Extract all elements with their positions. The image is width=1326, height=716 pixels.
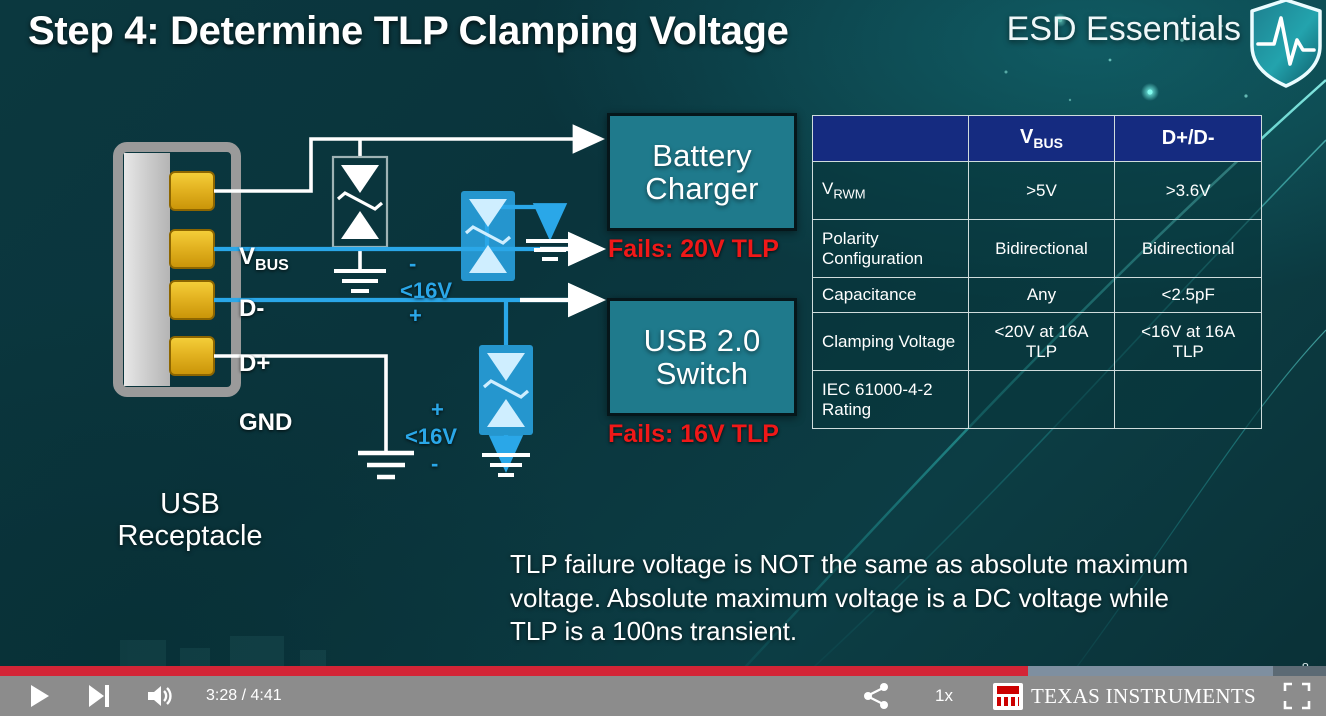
volume-icon[interactable] — [142, 679, 176, 713]
header-vbus-main: V — [1020, 126, 1033, 148]
block-battery-charger: Battery Charger — [607, 113, 797, 231]
fail-note-charger: Fails: 20V TLP — [608, 235, 779, 264]
tvs-diode-blue-lower — [479, 300, 533, 475]
table-header-vbus: VBUS — [968, 116, 1115, 162]
cell-polarity-vbus: Bidirectional — [968, 220, 1115, 278]
circuit-diagram: Battery Charger Fails: 20V TLP USB 2.0 S… — [0, 95, 810, 595]
row-head-vrwm: VRWM — [813, 162, 969, 220]
vrwm-main: V — [822, 179, 833, 198]
ti-mark-icon — [993, 683, 1023, 710]
receptacle-caption: USB Receptacle — [100, 488, 280, 553]
ti-brand-text: TEXAS INSTRUMENTS — [1031, 684, 1256, 709]
slide-title: Step 4: Determine TLP Clamping Voltage — [28, 9, 789, 54]
signal-label-dminus: D- — [239, 295, 264, 323]
block-label-line2: Charger — [645, 172, 758, 205]
signal-label-vbus: VBUS — [239, 243, 289, 275]
receptacle-caption-line2: Receptacle — [100, 520, 280, 552]
fail-note-switch: Fails: 16V TLP — [608, 420, 779, 449]
next-track-icon[interactable] — [82, 679, 116, 713]
vrwm-sub: RWM — [833, 187, 865, 202]
cell-capacitance-dpdm: <2.5pF — [1115, 278, 1262, 313]
share-icon[interactable] — [859, 679, 893, 713]
tvs-diode-blue-upper — [461, 191, 574, 281]
block-usb-switch: USB 2.0 Switch — [607, 298, 797, 416]
vbus-main: V — [239, 243, 255, 270]
row-head-polarity: Polarity Configuration — [813, 220, 969, 278]
table-header-dpdm: D+/D- — [1115, 116, 1262, 162]
progress-bar[interactable] — [0, 666, 1326, 676]
progress-played — [0, 666, 1028, 676]
tvs-upper-top-sign: - — [409, 251, 416, 277]
brand-label: ESD Essentials — [1007, 10, 1241, 49]
cell-vrwm-dpdm: >3.6V — [1115, 162, 1262, 220]
table-row: Clamping Voltage <20V at 16A TLP <16V at… — [813, 313, 1262, 371]
texas-instruments-logo: TEXAS INSTRUMENTS — [993, 683, 1256, 710]
table-row: Polarity Configuration Bidirectional Bid… — [813, 220, 1262, 278]
row-head-capacitance: Capacitance — [813, 278, 969, 313]
player-controls: 3:28 / 4:41 1x TEXAS INSTRUMENTS — [0, 676, 1326, 716]
cell-iec-dpdm — [1115, 371, 1262, 429]
footnote-text: TLP failure voltage is NOT the same as a… — [510, 548, 1190, 649]
block-label-line1: USB 2.0 — [644, 324, 761, 357]
cell-clamping-vbus: <20V at 16A TLP — [968, 313, 1115, 371]
cell-capacitance-vbus: Any — [968, 278, 1115, 313]
table-header-blank — [813, 116, 969, 162]
tvs-upper-bottom-sign: + — [409, 303, 422, 329]
tvs-diode-white — [333, 157, 387, 291]
receptacle-caption-line1: USB — [100, 488, 280, 520]
tvs-lower-top-sign: + — [431, 397, 444, 423]
table-header-row: VBUS D+/D- — [813, 116, 1262, 162]
tvs-lower-voltage: <16V — [405, 424, 457, 450]
header-vbus-sub: BUS — [1033, 135, 1063, 151]
table-row: VRWM >5V >3.6V — [813, 162, 1262, 220]
cell-clamping-dpdm: <16V at 16A TLP — [1115, 313, 1262, 371]
fullscreen-icon[interactable] — [1282, 681, 1312, 711]
table-row: IEC 61000-4-2 Rating — [813, 371, 1262, 429]
ground-symbol-1 — [334, 271, 386, 291]
table-row: Capacitance Any <2.5pF — [813, 278, 1262, 313]
playback-speed-button[interactable]: 1x — [935, 686, 953, 706]
signal-label-dplus: D+ — [239, 350, 270, 378]
vbus-sub: BUS — [255, 257, 289, 274]
time-display: 3:28 / 4:41 — [206, 687, 282, 705]
row-head-clamping: Clamping Voltage — [813, 313, 969, 371]
cell-polarity-dpdm: Bidirectional — [1115, 220, 1262, 278]
ground-symbol-3 — [358, 453, 414, 477]
block-label-line2: Switch — [656, 357, 749, 390]
slide-canvas: Step 4: Determine TLP Clamping Voltage E… — [0, 0, 1326, 716]
cell-vrwm-vbus: >5V — [968, 162, 1115, 220]
tvs-lower-bottom-sign: - — [431, 451, 438, 477]
signal-label-gnd: GND — [239, 409, 292, 437]
receptacle-pins — [170, 172, 214, 375]
play-icon[interactable] — [22, 679, 56, 713]
cell-iec-vbus — [968, 371, 1115, 429]
spec-table: VBUS D+/D- VRWM >5V >3.6V Polarity Confi… — [812, 115, 1262, 429]
tvs-upper-voltage: <16V — [400, 278, 452, 304]
shield-heartbeat-icon — [1248, 0, 1324, 90]
row-head-iec: IEC 61000-4-2 Rating — [813, 371, 969, 429]
block-label-line1: Battery — [652, 139, 752, 172]
